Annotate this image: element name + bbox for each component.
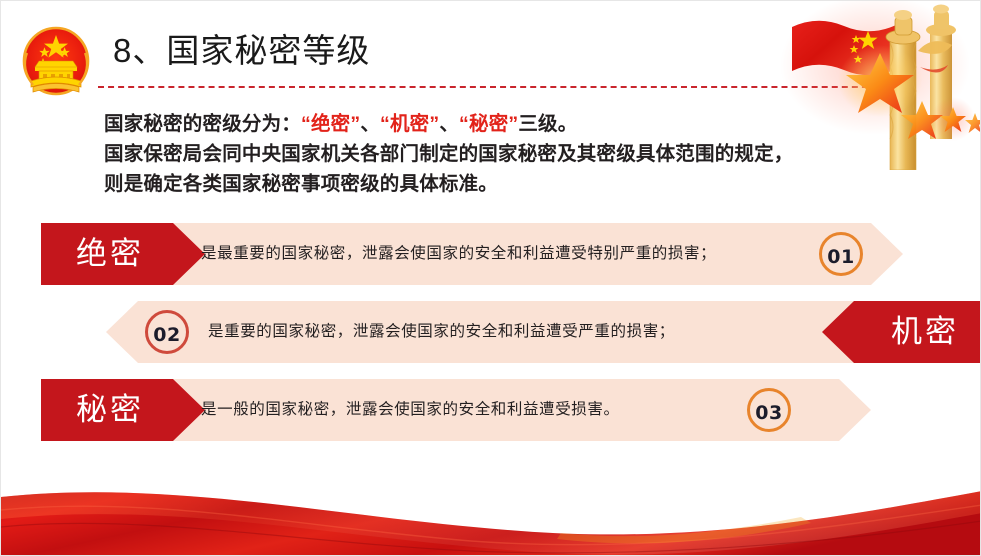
body-line1-prefix: 国家秘密的密级分为： — [104, 113, 301, 135]
level-number-1: 01 — [819, 232, 863, 276]
level-tag-3: 秘密 — [41, 379, 205, 441]
level-description-3: 是一般的国家秘密，泄露会使国家的安全和利益遭受损害。 — [201, 379, 620, 441]
level-row-secret: 机密 02 是重要的国家秘密，泄露会使国家的安全和利益遭受严重的损害； — [106, 301, 976, 363]
red-silk-ribbon-icon — [1, 455, 981, 555]
level-number-2: 02 — [145, 310, 189, 354]
level-row-top-secret: 绝密 是最重要的国家秘密，泄露会使国家的安全和利益遭受特别严重的损害； 01 — [41, 223, 903, 285]
level-number-3: 03 — [747, 388, 791, 432]
level-keyword-top-secret: “绝密” — [301, 113, 360, 135]
level-tag-2: 机密 — [822, 301, 981, 363]
body-line-3: 则是确定各类国家秘密事项密级的具体标准。 — [104, 169, 864, 199]
body-sep-2: 、 — [439, 113, 459, 135]
body-line-1: 国家秘密的密级分为：“绝密”、“机密”、“秘密”三级。 — [104, 109, 864, 139]
header-divider — [98, 86, 888, 88]
page-title: 8、国家秘密等级 — [113, 29, 370, 73]
level-row-confidential: 秘密 是一般的国家秘密，泄露会使国家的安全和利益遭受损害。 03 — [41, 379, 871, 441]
level-description-1: 是最重要的国家秘密，泄露会使国家的安全和利益遭受特别严重的损害； — [201, 223, 716, 285]
level-description-2: 是重要的国家秘密，泄露会使国家的安全和利益遭受严重的损害； — [208, 301, 675, 363]
level-tag-1: 绝密 — [41, 223, 205, 285]
china-national-emblem-icon — [19, 23, 93, 101]
body-line-2: 国家保密局会同中央国家机关各部门制定的国家秘密及其密级具体范围的规定， — [104, 139, 864, 169]
body-sep-1: 、 — [360, 113, 380, 135]
body-paragraph: 国家秘密的密级分为：“绝密”、“机密”、“秘密”三级。 国家保密局会同中央国家机… — [104, 109, 864, 199]
body-line1-suffix: 三级。 — [518, 113, 577, 135]
slide-canvas: 8、国家秘密等级 — [0, 0, 981, 556]
level-keyword-confidential: “秘密” — [459, 113, 518, 135]
level-keyword-secret: “机密” — [380, 113, 439, 135]
